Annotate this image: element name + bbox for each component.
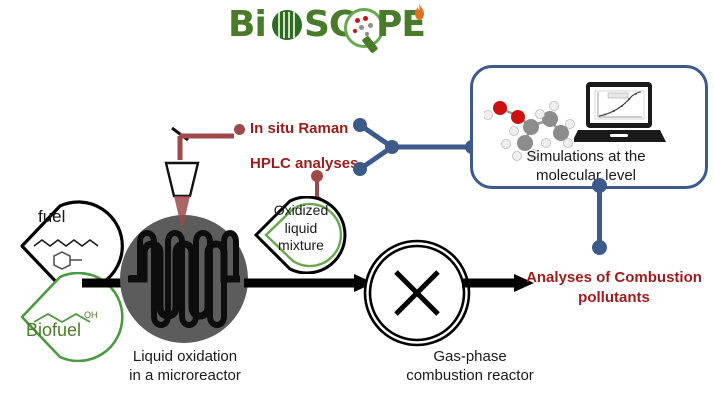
simulations-caption: Simulations at the molecular level [470,148,702,186]
output-line1: Analyses of Combustion [524,268,704,288]
stage1-caption-line2: in a microreactor [110,367,260,386]
microreactor-circle-icon [272,10,302,40]
junction-node [385,140,399,154]
stage2-caption-line1: Gas-phase [370,348,570,367]
simbox-output-node-bottom [592,240,607,255]
hplc-analyses-label: HPLC analyses [250,155,358,172]
mixture-line3: mixture [262,237,340,255]
sim-caption-line1: Simulations at the [470,148,702,167]
probe-node [234,124,245,135]
hplc-node [353,162,367,176]
reactor-channel-overlay [128,228,240,330]
stage2-caption-line2: combustion reactor [370,367,570,386]
sim-caption-line2: molecular level [470,167,702,186]
hplc-connector-node-top [311,170,323,182]
analyses-connector-lines [350,115,480,185]
flow-arrow-icon-2 [244,272,374,294]
stage1-caption: Liquid oxidation in a microreactor [110,348,260,386]
logo-text-bi: Bi [228,4,266,45]
raman-node [353,118,367,132]
in-situ-raman-label: In situ Raman [250,120,348,137]
biofuel-label: Biofuel [26,320,81,341]
output-line2: pollutants [524,288,704,308]
biofuel-oh-label: OH [84,310,98,320]
bioscope-logo: Bi SC PE [228,2,428,50]
mixture-line1: Oxidized [262,202,340,220]
fuel-label: fuel [38,207,65,227]
simbox-output-node-top [592,178,607,193]
mixture-caption: Oxidized liquid mixture [262,202,340,255]
stage1-caption-line1: Liquid oxidation [110,348,260,367]
flame-icon [414,4,425,20]
stage2-caption: Gas-phase combustion reactor [370,348,570,386]
laptop-chart-icon [574,80,670,150]
jet-stirred-reactor-icon [358,238,476,356]
output-label: Analyses of Combustion pollutants [524,268,704,307]
mixture-line2: liquid [262,220,340,238]
